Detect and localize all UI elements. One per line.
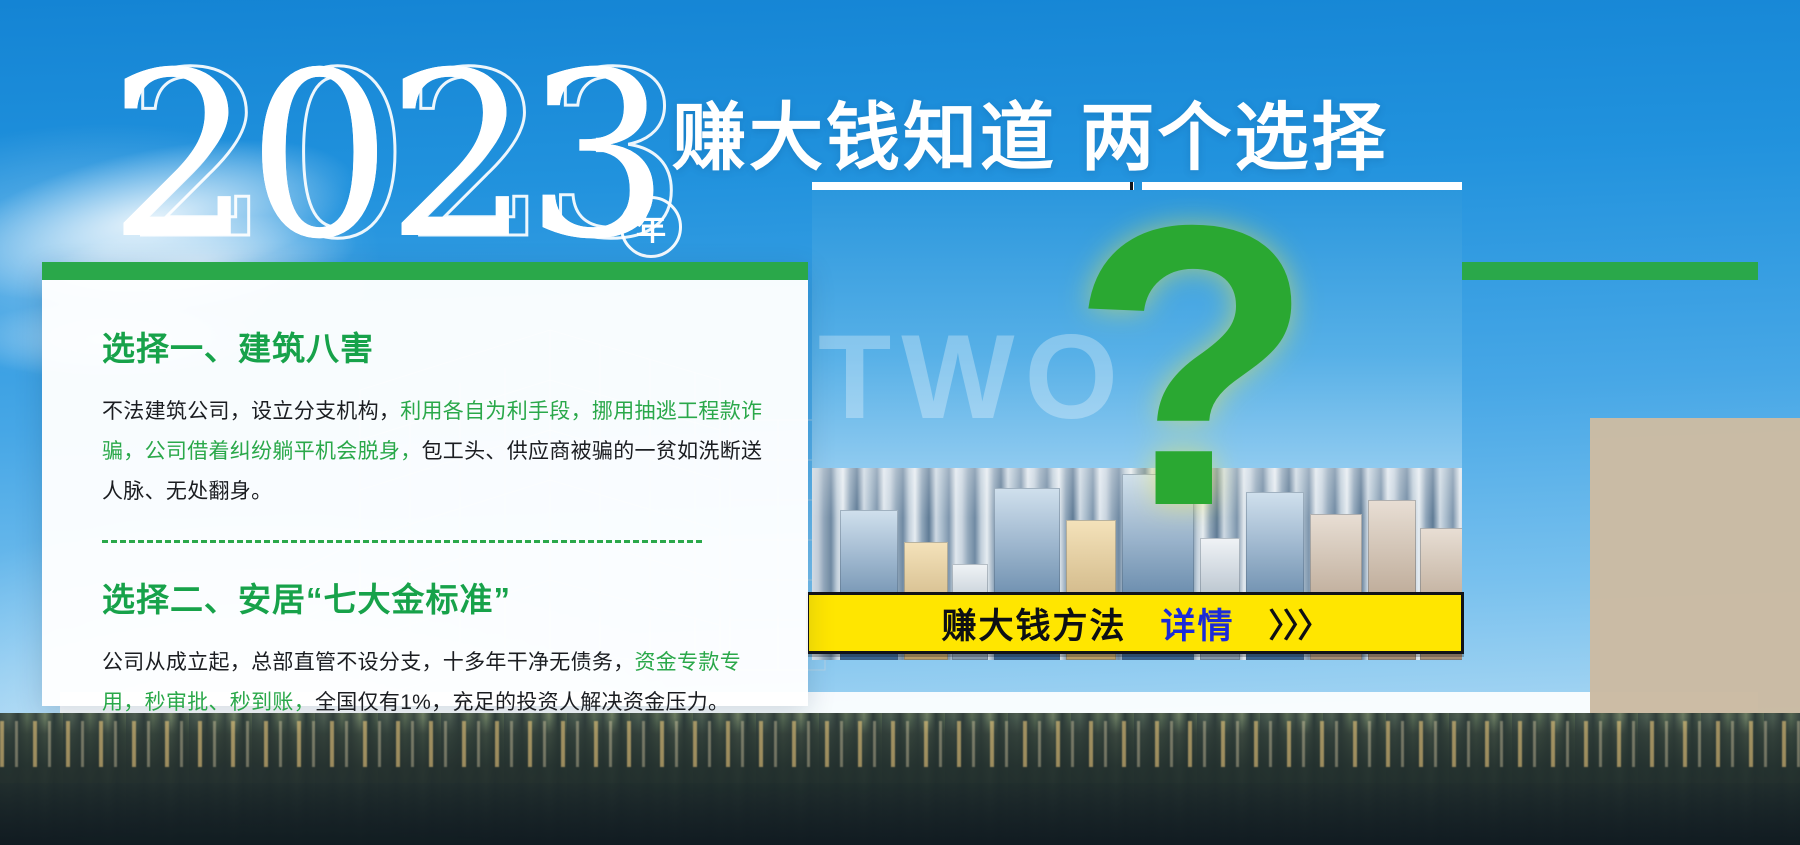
- water-reflection: [0, 783, 1800, 845]
- cta-main-label: 赚大钱方法: [941, 598, 1126, 649]
- year-suffix-badge: 年: [620, 196, 682, 258]
- section-one-body: 不法建筑公司，设立分支机构，利用各自为利手段，挪用抽逃工程款诈骗，公司借着纠纷躺…: [102, 392, 770, 512]
- cta-banner[interactable]: 赚大钱方法 详情 〉〉〉: [806, 592, 1464, 654]
- card-top-accent-bar: [42, 262, 808, 280]
- green-accent-stub: [1462, 262, 1758, 280]
- section-two: 选择二、安居“七大金标准” 公司从成立起，总部直管不设分支，十多年干净无债务，资…: [102, 573, 770, 723]
- section-two-body: 公司从成立起，总部直管不设分支，十多年干净无债务，资金专款专用，秒审批、秒到账，…: [102, 643, 770, 723]
- section-two-body-part: 公司从成立起，总部直管不设分支，十多年干净无债务，: [102, 651, 635, 674]
- section-two-body-part: 全国仅有1%，充足的投资人解决资金压力。: [315, 691, 729, 714]
- right-edge-buildings: [1590, 418, 1800, 714]
- section-divider: [102, 540, 702, 543]
- right-visual-panel: TWO CHOICES ?: [812, 190, 1462, 660]
- city-lights-decoration: [0, 721, 1800, 767]
- content-card: 选择一、建筑八害 不法建筑公司，设立分支机构，利用各自为利手段，挪用抽逃工程款诈…: [42, 262, 808, 706]
- chevron-right-icon: 〉〉〉: [1269, 599, 1329, 647]
- section-one-body-part: 不法建筑公司，设立分支机构，: [102, 400, 400, 423]
- cta-detail-link[interactable]: 详情: [1161, 598, 1235, 649]
- question-mark-icon: ?: [1070, 202, 1314, 530]
- page-title: 赚大钱知道 两个选择: [672, 78, 1389, 185]
- section-two-title: 选择二、安居“七大金标准”: [102, 573, 770, 621]
- section-one: 选择一、建筑八害 不法建筑公司，设立分支机构，利用各自为利手段，挪用抽逃工程款诈…: [102, 322, 770, 512]
- content-card-inner: 选择一、建筑八害 不法建筑公司，设立分支机构，利用各自为利手段，挪用抽逃工程款诈…: [42, 280, 808, 706]
- poster-stage: 2023 2023 年 赚大钱知道 两个选择 TWO CHOICES ?: [0, 0, 1800, 845]
- section-one-title: 选择一、建筑八害: [102, 322, 770, 370]
- bottom-city-strip: [0, 713, 1800, 845]
